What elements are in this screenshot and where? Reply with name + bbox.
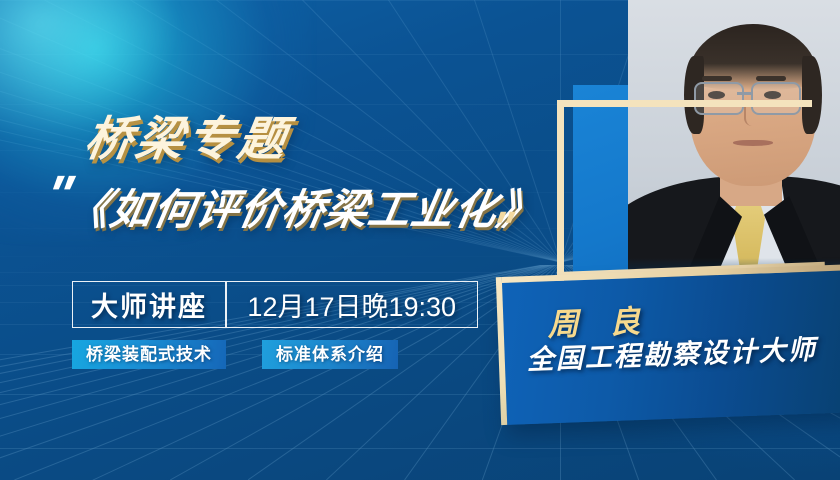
topic-tag-2: 标准体系介绍 — [262, 340, 398, 369]
topic-tag-1: 桥梁装配式技术 — [72, 340, 226, 369]
page-title: 桥梁专题 — [81, 100, 296, 169]
lecture-poster: 周 良 全国工程勘察设计大师 桥梁专题 " 《如何评价桥梁工业化》 " 大师讲座… — [0, 0, 840, 480]
topic-tags: 桥梁装配式技术 标准体系介绍 — [72, 340, 398, 369]
lecture-type-label: 大师讲座 — [73, 282, 225, 327]
lecture-datetime: 12月17日晚19:30 — [227, 282, 478, 327]
speaker-nameplate: 周 良 全国工程勘察设计大师 — [502, 270, 840, 425]
portrait-brow-left — [702, 76, 732, 81]
page-subtitle: 《如何评价桥梁工业化》 — [63, 176, 547, 237]
portrait-brow-right — [756, 76, 786, 81]
portrait-glasses-bridge — [737, 92, 753, 95]
lecture-info-box: 大师讲座 12月17日晚19:30 — [72, 281, 478, 328]
